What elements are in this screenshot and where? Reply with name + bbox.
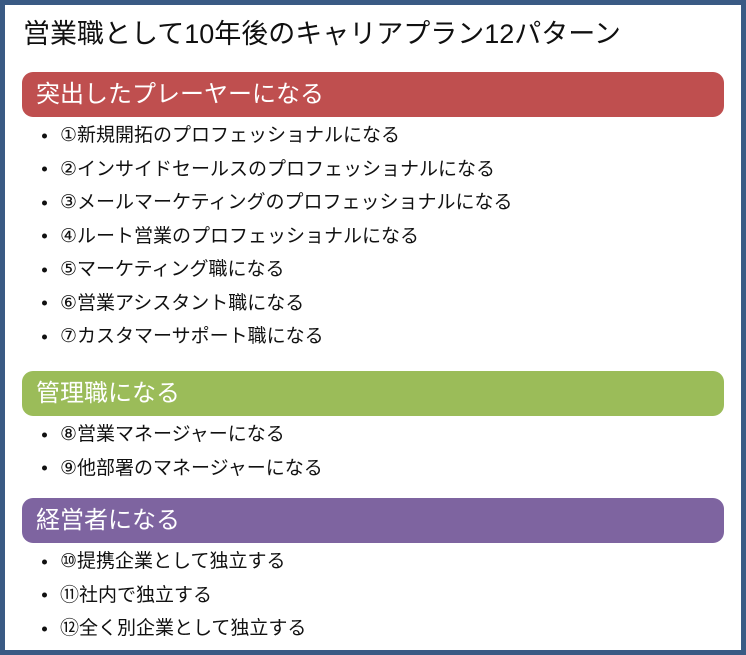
list-item: ③メールマーケティングのプロフェッショナルになる — [22, 186, 724, 220]
list-item: ②インサイドセールスのプロフェッショナルになる — [22, 153, 724, 187]
list-item-label: ①新規開拓のプロフェッショナルになる — [60, 125, 400, 146]
list-item: ⑤マーケティング職になる — [22, 253, 724, 287]
section-header-label: 突出したプレーヤーになる — [36, 81, 324, 109]
list-item-label: ⑤マーケティング職になる — [60, 259, 285, 280]
section-header-player: 突出したプレーヤーになる — [22, 72, 724, 117]
list-item: ①新規開拓のプロフェッショナルになる — [22, 119, 724, 153]
list-item: ④ルート営業のプロフェッショナルになる — [22, 220, 724, 254]
bullet-icon — [42, 167, 47, 172]
list-item-label: ③メールマーケティングのプロフェッショナルになる — [60, 192, 513, 213]
page-title: 営業職として10年後のキャリアプラン12パターン — [23, 17, 723, 51]
list-item-label: ④ルート営業のプロフェッショナルになる — [60, 226, 419, 247]
list-item: ⑫全く別企業として独立する — [22, 612, 724, 646]
section-header-label: 経営者になる — [36, 507, 180, 535]
list-item: ⑧営業マネージャーになる — [22, 418, 724, 452]
list-item: ⑩提携企業として独立する — [22, 545, 724, 579]
list-item-label: ⑨他部署のマネージャーになる — [60, 458, 323, 479]
list-item-label: ⑪社内で独立する — [60, 585, 212, 606]
list-item-label: ⑦カスタマーサポート職になる — [60, 326, 324, 347]
section-list-manager: ⑧営業マネージャーになる ⑨他部署のマネージャーになる — [22, 418, 724, 485]
bullet-icon — [42, 334, 47, 339]
bullet-icon — [42, 593, 47, 598]
bullet-icon — [42, 267, 47, 272]
list-item-label: ⑩提携企業として独立する — [60, 551, 285, 572]
list-item: ⑥営業アシスタント職になる — [22, 287, 724, 321]
section-header-label: 管理職になる — [36, 380, 180, 408]
section-list-player: ①新規開拓のプロフェッショナルになる ②インサイドセールスのプロフェッショナルに… — [22, 119, 724, 354]
bullet-icon — [42, 432, 47, 437]
section-header-manager: 管理職になる — [22, 371, 724, 416]
list-item: ⑨他部署のマネージャーになる — [22, 452, 724, 486]
bullet-icon — [42, 133, 47, 138]
bullet-icon — [42, 234, 47, 239]
bullet-icon — [42, 559, 47, 564]
list-item-label: ⑫全く別企業として独立する — [60, 618, 306, 639]
section-header-executive: 経営者になる — [22, 498, 724, 543]
bullet-icon — [42, 200, 47, 205]
list-item-label: ⑥営業アシスタント職になる — [60, 293, 304, 314]
bullet-icon — [42, 466, 47, 471]
list-item-label: ②インサイドセールスのプロフェッショナルになる — [60, 159, 495, 180]
list-item: ⑪社内で独立する — [22, 579, 724, 613]
section-list-executive: ⑩提携企業として独立する ⑪社内で独立する ⑫全く別企業として独立する — [22, 545, 724, 646]
bullet-icon — [42, 301, 47, 306]
list-item: ⑦カスタマーサポート職になる — [22, 320, 724, 354]
slide-frame: 営業職として10年後のキャリアプラン12パターン 突出したプレーヤーになる ①新… — [0, 0, 746, 655]
list-item-label: ⑧営業マネージャーになる — [60, 424, 285, 445]
bullet-icon — [42, 626, 47, 631]
slide-content: 営業職として10年後のキャリアプラン12パターン 突出したプレーヤーになる ①新… — [5, 5, 741, 650]
